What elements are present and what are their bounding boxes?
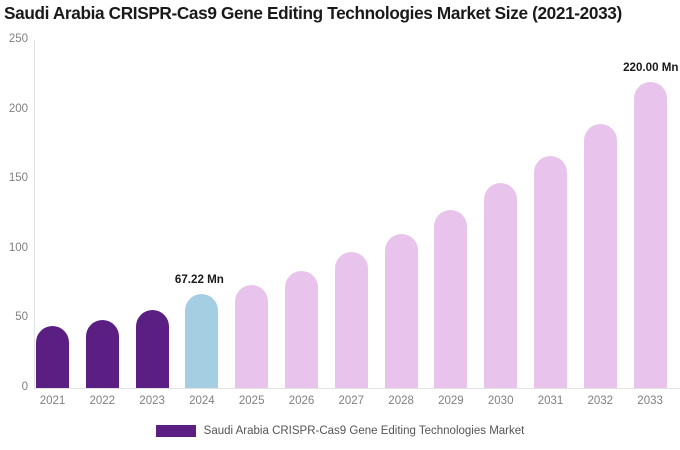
- bar-2021[interactable]: [36, 326, 69, 388]
- data-label-2024: 67.22 Mn: [175, 274, 224, 286]
- y-axis-tick-label: 250: [0, 34, 28, 46]
- bar-2025[interactable]: [235, 285, 268, 388]
- bar-2033[interactable]: [634, 82, 667, 388]
- data-label-2033: 220.00 Mn: [623, 62, 678, 74]
- bar-2023[interactable]: [136, 310, 169, 388]
- bar-2030[interactable]: [484, 183, 517, 388]
- bar-2022[interactable]: [86, 320, 119, 388]
- y-axis-tick-label: 0: [0, 382, 28, 394]
- bar-2031[interactable]: [534, 156, 567, 388]
- y-axis-tick-label: 100: [0, 243, 28, 255]
- y-axis-tick-label: 50: [0, 312, 28, 324]
- y-axis-tick-label: 200: [0, 104, 28, 116]
- chart-container: Saudi Arabia CRISPR-Cas9 Gene Editing Te…: [0, 0, 680, 450]
- bar-2028[interactable]: [385, 234, 418, 389]
- legend-swatch-market: [156, 425, 196, 437]
- chart-legend: Saudi Arabia CRISPR-Cas9 Gene Editing Te…: [0, 425, 680, 437]
- legend-label-market: Saudi Arabia CRISPR-Cas9 Gene Editing Te…: [204, 425, 525, 437]
- bar-2024[interactable]: [185, 294, 218, 388]
- plot-area: [34, 40, 680, 388]
- y-axis-tick-label: 150: [0, 173, 28, 185]
- bars-layer: [34, 40, 680, 388]
- bar-2026[interactable]: [285, 271, 318, 388]
- chart-title: Saudi Arabia CRISPR-Cas9 Gene Editing Te…: [4, 3, 680, 24]
- bar-2032[interactable]: [584, 124, 617, 388]
- x-axis-tick-label: 2033: [620, 396, 680, 408]
- bar-2027[interactable]: [335, 252, 368, 388]
- x-axis-line: [34, 388, 680, 389]
- bar-2029[interactable]: [434, 210, 467, 388]
